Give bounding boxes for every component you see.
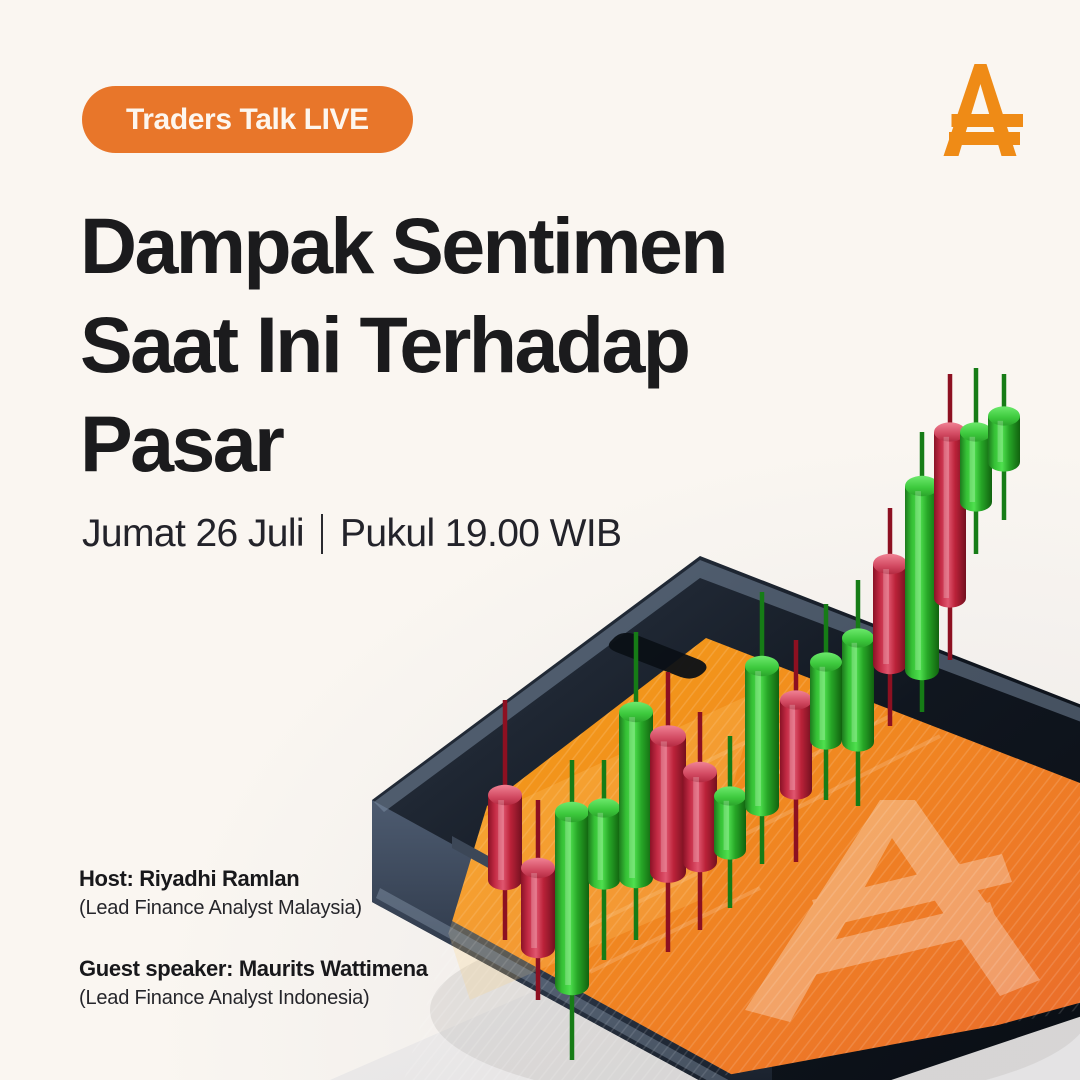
credit-guest-role: (Lead Finance Analyst Indonesia) bbox=[79, 987, 428, 1010]
credit-guest-name: Guest speaker: Maurits Wattimena bbox=[79, 956, 428, 982]
candlestick bbox=[905, 432, 939, 712]
credit-guest: Guest speaker: Maurits Wattimena (Lead F… bbox=[79, 956, 428, 1010]
candlestick bbox=[988, 374, 1020, 520]
credit-host: Host: Riyadhi Ramlan (Lead Finance Analy… bbox=[79, 866, 428, 920]
promo-poster: Traders Talk LIVE Dampak Sentimen Saat I… bbox=[0, 0, 1080, 1080]
credits-block: Host: Riyadhi Ramlan (Lead Finance Analy… bbox=[79, 866, 428, 1010]
credit-host-role: (Lead Finance Analyst Malaysia) bbox=[79, 897, 428, 920]
credit-host-name: Host: Riyadhi Ramlan bbox=[79, 866, 428, 892]
